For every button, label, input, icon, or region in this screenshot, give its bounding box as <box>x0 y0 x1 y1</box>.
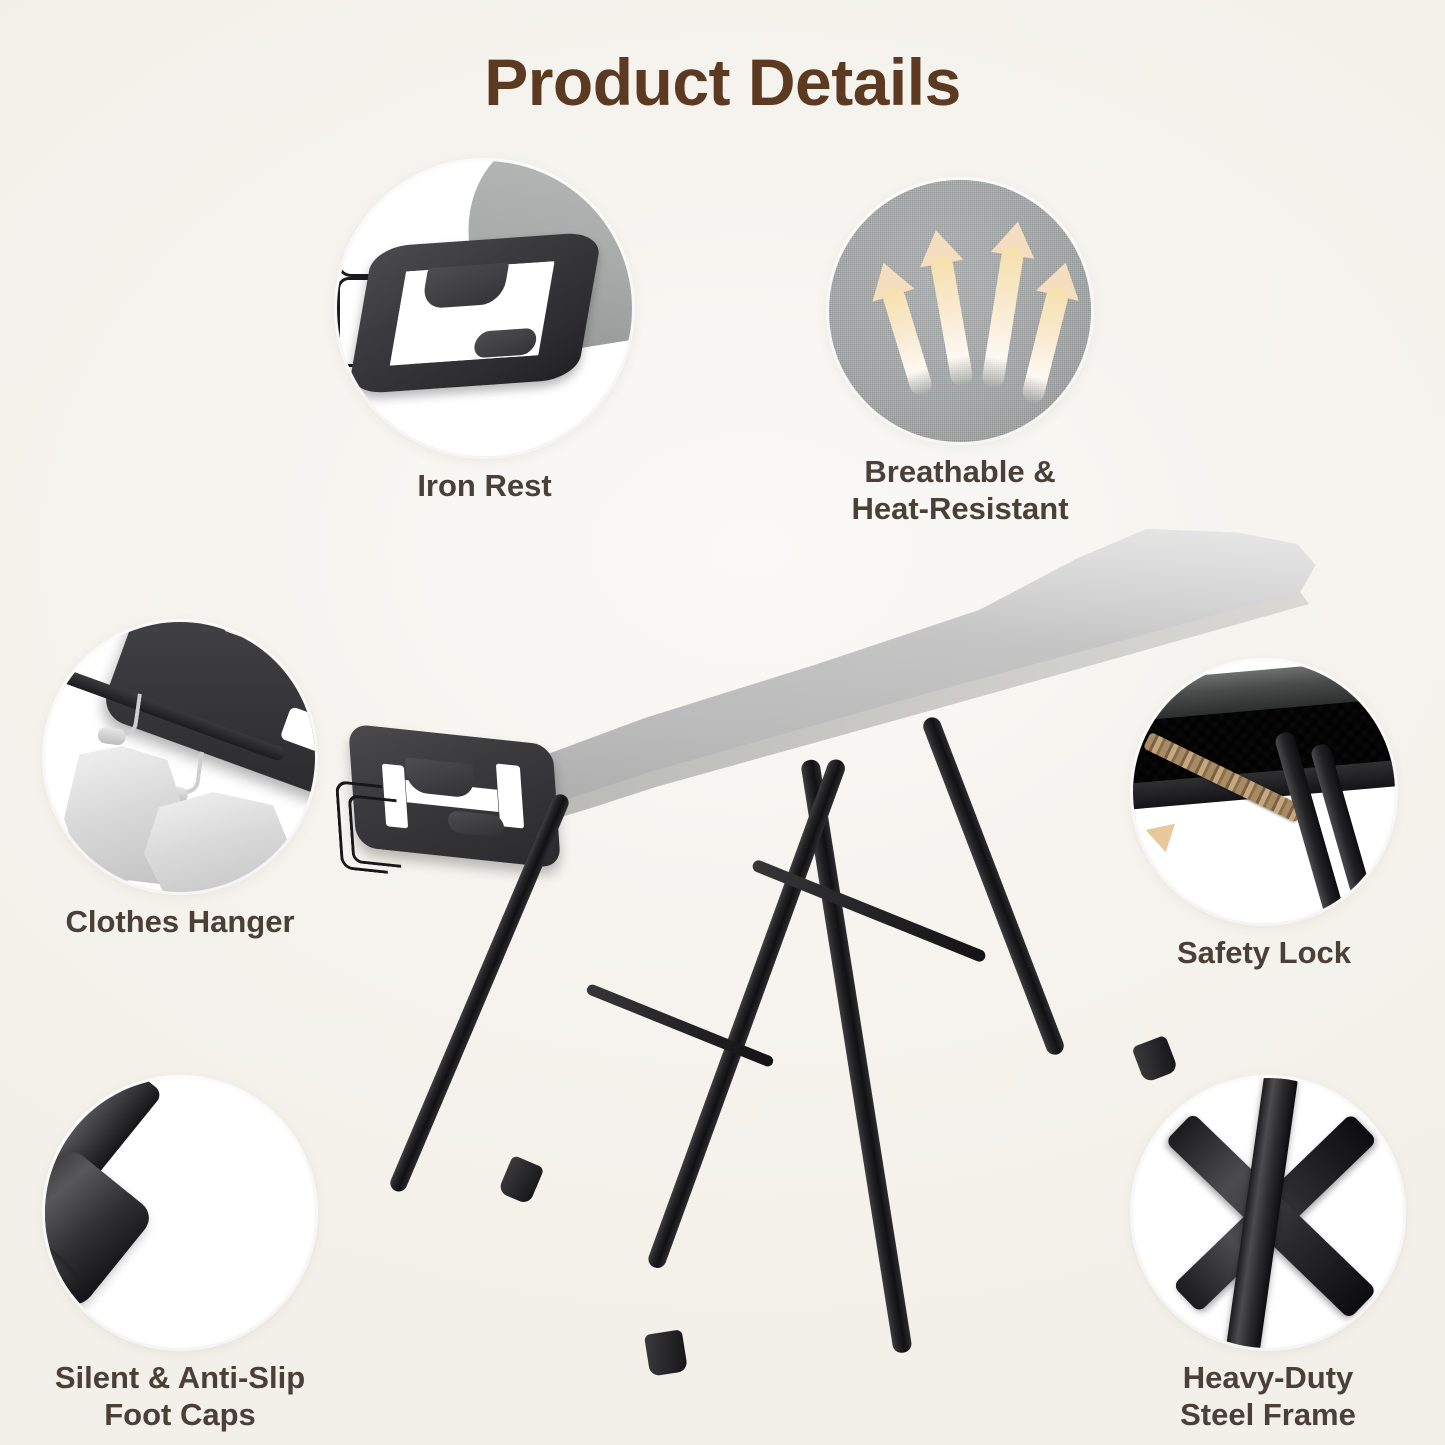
feature-breathable[interactable]: Breathable & Heat-Resistant <box>829 180 1091 527</box>
foot-cap-rear-right <box>1131 1035 1178 1083</box>
feature-steel-frame[interactable]: Heavy-Duty Steel Frame <box>1133 1078 1403 1433</box>
feature-label-steel-frame: Heavy-Duty Steel Frame <box>1133 1360 1403 1433</box>
steel-frame-circle <box>1133 1078 1403 1348</box>
rubber-foot-cap <box>45 1145 156 1313</box>
clothes-hanger-circle <box>45 622 315 892</box>
front-leg-right <box>800 759 913 1355</box>
feature-label-breathable: Breathable & Heat-Resistant <box>829 454 1091 527</box>
hanger-hook-left <box>110 690 142 737</box>
foot-caps-circle <box>45 1078 315 1348</box>
feature-label-clothes-hanger: Clothes Hanger <box>45 904 315 941</box>
feature-clothes-hanger[interactable]: Clothes Hanger <box>45 622 315 941</box>
hanger-hook-right <box>172 748 204 795</box>
feature-safety-lock[interactable]: Safety Lock <box>1133 661 1395 972</box>
foot-cap-front-right <box>644 1329 688 1376</box>
iron-rest-circle <box>337 161 632 456</box>
feature-label-safety-lock: Safety Lock <box>1133 935 1395 972</box>
hanging-garment-right <box>141 792 291 892</box>
iron-rest-wire-inner <box>348 794 402 868</box>
feature-label-iron-rest: Iron Rest <box>337 468 632 505</box>
product-details-infographic: Product Details <box>0 0 1445 1445</box>
rear-leg-left <box>646 757 848 1271</box>
safety-lock-circle <box>1133 661 1395 923</box>
plate-tab <box>257 622 315 691</box>
foot-cap-front-left <box>498 1155 545 1205</box>
plate-notch-lower <box>280 706 315 765</box>
iron-rest-plate-icon <box>352 229 598 396</box>
feature-label-foot-caps: Silent & Anti-Slip Foot Caps <box>45 1360 315 1433</box>
breathable-circle <box>829 180 1091 442</box>
lock-direction-arrow-icon <box>1141 816 1175 853</box>
feature-iron-rest[interactable]: Iron Rest <box>337 161 632 505</box>
feature-foot-caps[interactable]: Silent & Anti-Slip Foot Caps <box>45 1078 315 1433</box>
